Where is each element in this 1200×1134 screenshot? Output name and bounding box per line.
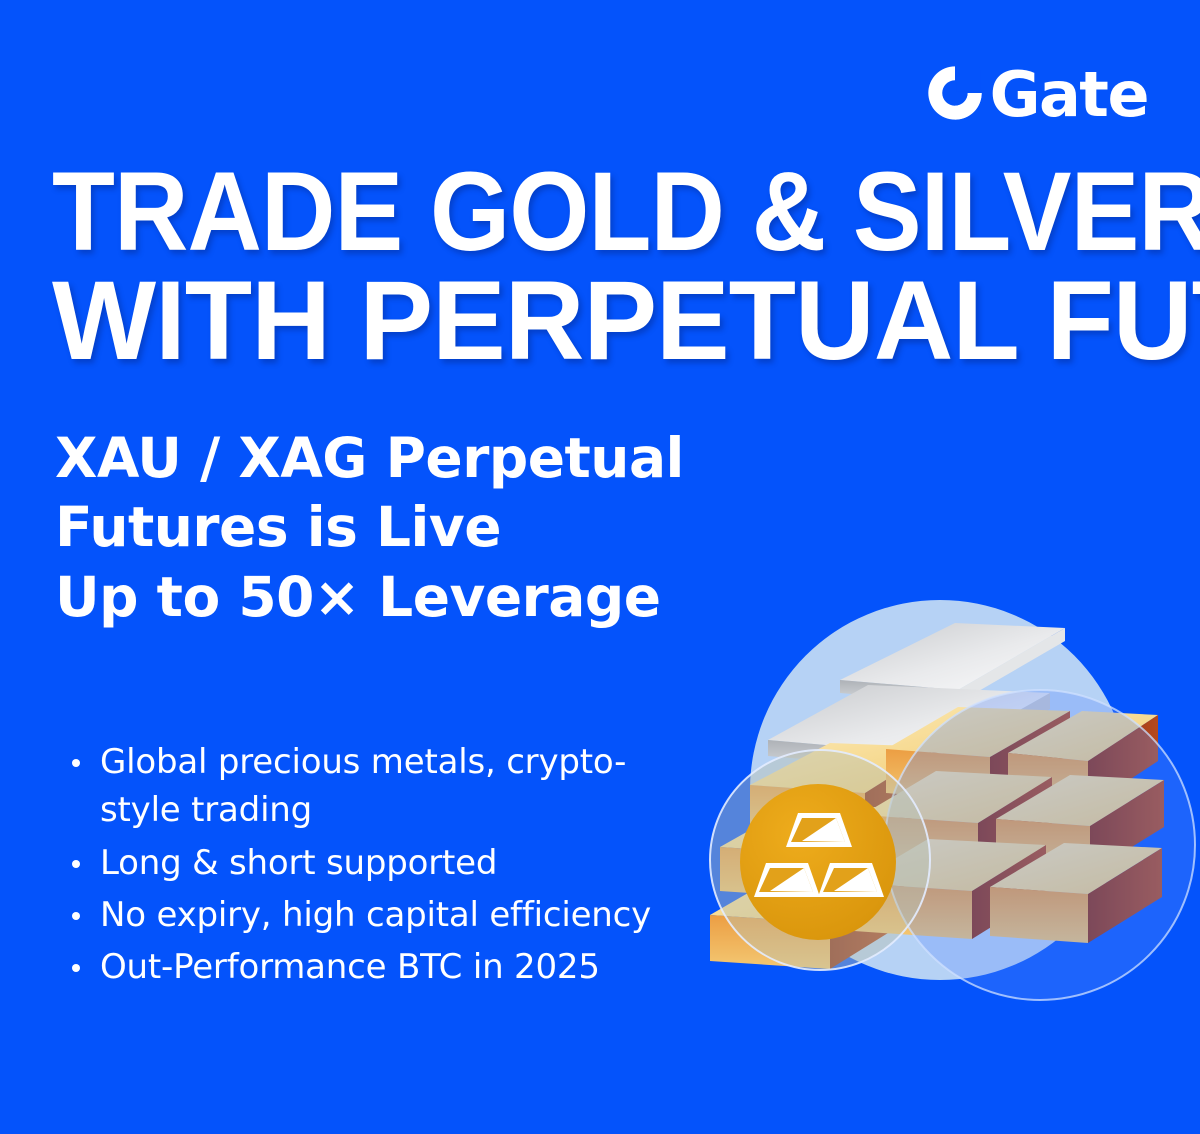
list-item: Long & short supported [62,839,672,887]
subtitle: XAU / XAG Perpetual Futures is Live Up t… [55,424,775,632]
gate-g-mark-icon [926,64,984,122]
overlay-circle [885,690,1195,1000]
gold-badge [740,784,896,940]
headline: TRADE GOLD & SILVER WITH PERPETUAL FUTUR… [52,160,1162,372]
headline-line-1: TRADE GOLD & SILVER [52,160,1073,263]
list-item: No expiry, high capital efficiency [62,891,672,939]
gate-wordmark: Gate [990,64,1148,126]
gate-logo[interactable]: Gate [926,58,1148,128]
gold-and-silver-bars-illustration [690,575,1200,1025]
list-item: Global precious metals, crypto-style tra… [62,738,672,835]
promo-banner: Gate TRADE GOLD & SILVER WITH PERPETUAL … [0,0,1200,1134]
subtitle-line-1: XAU / XAG Perpetual [55,424,775,493]
headline-line-2: WITH PERPETUAL FUTURES [52,269,1145,372]
bars-artwork [690,575,1200,1025]
list-item: Out-Performance BTC in 2025 [62,943,672,991]
feature-list: Global precious metals, crypto-style tra… [62,738,672,995]
subtitle-line-3: Up to 50× Leverage [55,563,775,632]
subtitle-line-2: Futures is Live [55,493,775,562]
